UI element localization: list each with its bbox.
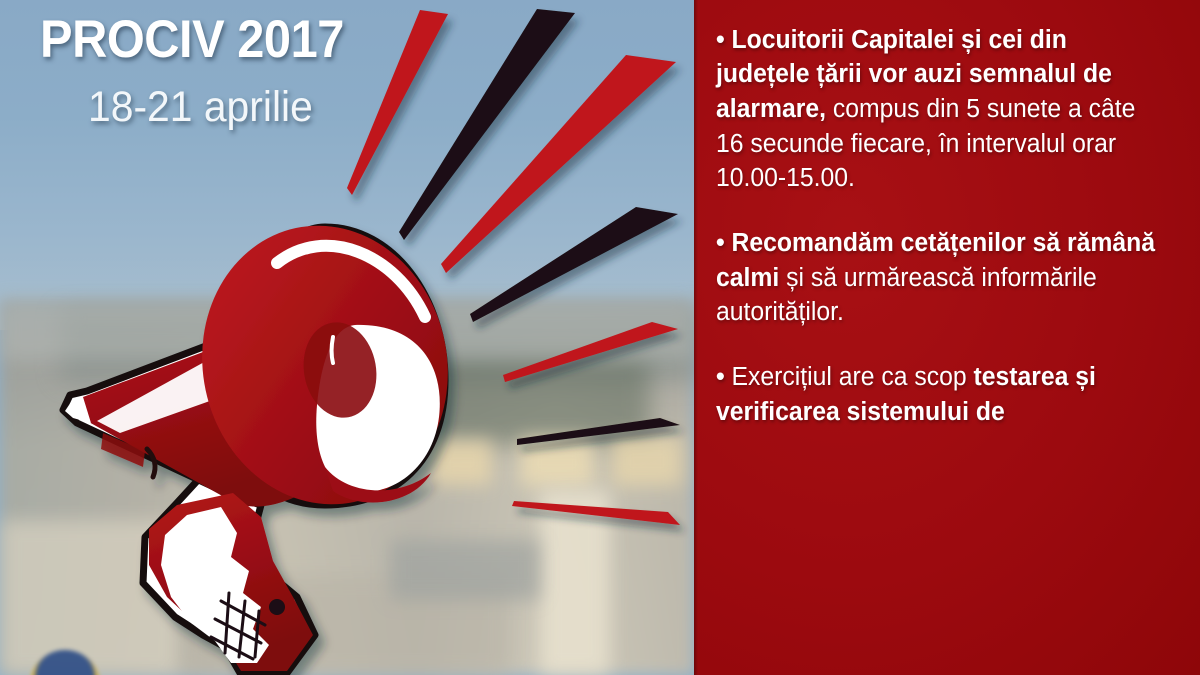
city-building-2 <box>520 438 594 486</box>
page-title: PROCIV 2017 <box>40 12 426 68</box>
info-panel-text: țara. • Locuitorii Capitalei și cei din … <box>716 0 1178 459</box>
paragraph-2-bullet: • <box>716 229 732 257</box>
headline-block: PROCIV 2017 18-21 aprilie <box>40 12 460 131</box>
megaphone-grip-dot <box>269 599 285 615</box>
paragraph-3-bullet: • <box>716 363 732 391</box>
city-building-3 <box>612 436 682 486</box>
megaphone-driver-notch <box>332 337 334 363</box>
city-tower <box>540 490 610 675</box>
poster-root: PROCIV 2017 18-21 aprilie <box>0 0 1200 675</box>
page-subtitle: 18-21 aprilie <box>88 84 441 131</box>
paragraph-1: • Locuitorii Capitalei și cei din județe… <box>716 23 1164 196</box>
megaphone-icon <box>25 205 485 675</box>
info-panel: țara. • Locuitorii Capitalei și cei din … <box>694 0 1200 675</box>
paragraph-1-bullet: • <box>716 26 732 54</box>
paragraph-2: • Recomandăm cetățenilor să rămână calmi… <box>716 226 1164 330</box>
paragraph-3-plain: Exercițiul are ca scop <box>732 363 974 391</box>
paragraph-3: • Exercițiul are ca scop testarea și ver… <box>716 360 1164 429</box>
